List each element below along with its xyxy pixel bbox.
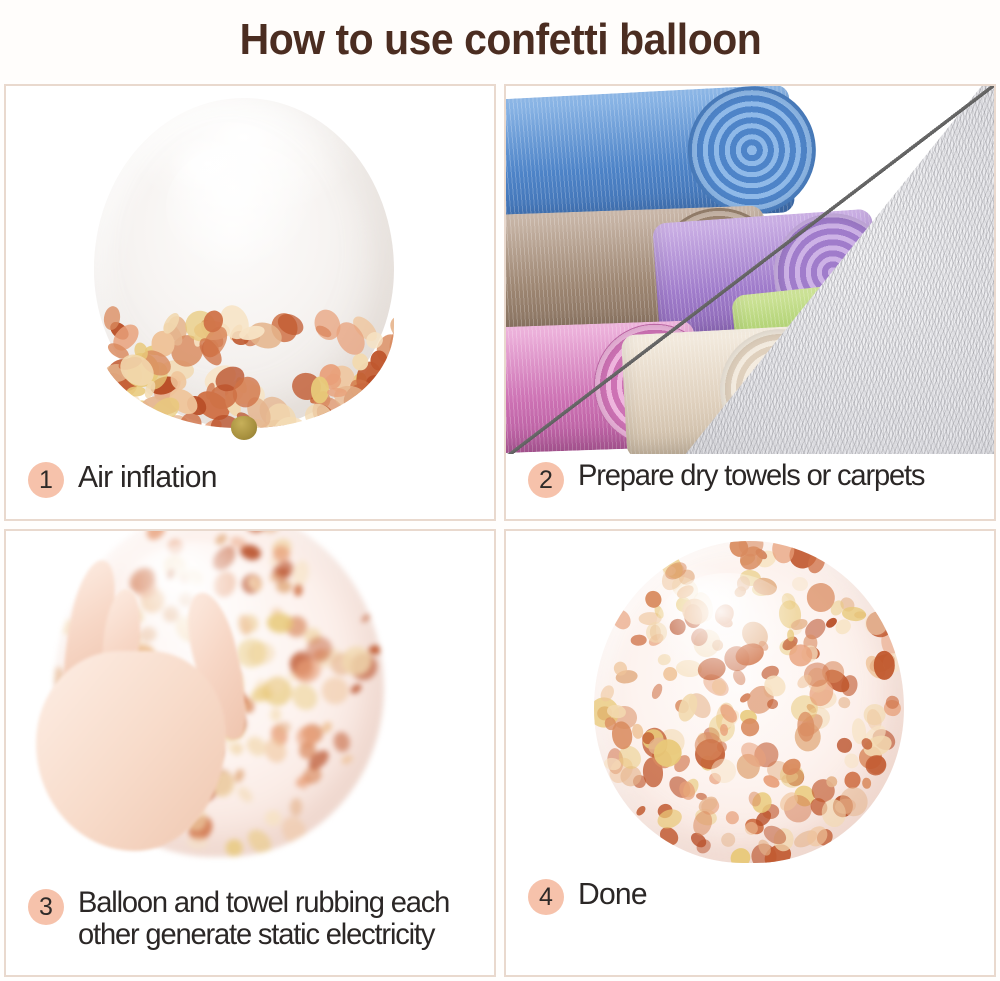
confetti-dot	[724, 808, 742, 826]
confetti-dot	[143, 531, 169, 543]
hand-rubbing-balloon-photo	[6, 531, 494, 883]
confetti-dot	[186, 835, 208, 849]
step-panel-2: 2 Prepare dry towels or carpets	[504, 84, 996, 521]
confetti-dot	[360, 612, 373, 624]
confetti-dot	[243, 825, 275, 857]
towels-and-carpet-photo	[506, 86, 994, 458]
step-3-caption: 3 Balloon and towel rubbing each other g…	[6, 881, 494, 975]
step-1-caption: 1 Air inflation	[6, 454, 494, 519]
confetti-dot	[333, 730, 352, 753]
confetti-dot	[861, 777, 871, 789]
steps-grid: 1 Air inflation 2 Prepare dry towels or …	[4, 84, 996, 977]
step-panel-1: 1 Air inflation	[4, 84, 496, 521]
balloon-highlight	[656, 573, 799, 682]
page-title-bar: How to use confetti balloon	[0, 0, 1000, 80]
confetti-dot	[838, 695, 853, 709]
confetti-dot	[370, 350, 387, 370]
confetti-dot	[340, 754, 354, 767]
step-caption-text-2: Prepare dry towels or carpets	[578, 460, 924, 492]
confetti-dot	[289, 798, 302, 817]
confetti-dot	[277, 813, 310, 849]
step-caption-text-1: Air inflation	[78, 460, 217, 493]
confetti-dot	[609, 606, 635, 633]
confetti-dot	[634, 804, 647, 817]
confetti-dot	[317, 672, 354, 709]
confetti-dot	[235, 784, 256, 805]
confetti-dot	[369, 645, 382, 655]
step-panel-4: 4 Done	[504, 529, 996, 977]
settled-confetti-layer	[94, 283, 394, 428]
step-number-badge-3: 3	[28, 889, 64, 925]
balloon-highlight	[166, 144, 316, 269]
confetti-dot	[257, 531, 285, 537]
page-title: How to use confetti balloon	[239, 15, 761, 65]
step-caption-text-3: Balloon and towel rubbing each other gen…	[78, 887, 476, 952]
confetti-dot	[631, 634, 647, 645]
white-balloon-shape	[94, 98, 394, 428]
confetti-dot	[286, 679, 322, 716]
step-number-badge-1: 1	[28, 462, 64, 498]
confetti-dot	[864, 612, 887, 636]
infographic-page: How to use confetti balloon 1 Air inflat…	[0, 0, 1000, 981]
confetti-dot	[650, 682, 665, 700]
confetti-dot	[127, 385, 146, 396]
finished-confetti-balloon-photo	[506, 531, 994, 871]
confetti-dot	[791, 576, 809, 593]
step-number-badge-2: 2	[528, 462, 564, 498]
balloon-knot-icon	[737, 857, 761, 871]
confetti-dot	[766, 698, 779, 710]
confetti-balloon-shape-4	[594, 541, 904, 863]
step-4-caption: 4 Done	[506, 871, 994, 975]
step-panel-3: 3 Balloon and towel rubbing each other g…	[4, 529, 496, 977]
confetti-dot	[719, 830, 738, 849]
balloon-knot-icon	[231, 416, 257, 440]
confetti-dot	[292, 584, 302, 597]
confetti-dot	[874, 651, 895, 680]
confetti-dot	[226, 838, 244, 857]
white-balloon-with-settled-confetti-photo	[6, 86, 494, 458]
towel-roll-spiral	[685, 86, 820, 218]
step-number-badge-4: 4	[528, 879, 564, 915]
step-2-caption: 2 Prepare dry towels or carpets	[506, 454, 994, 519]
step-caption-text-4: Done	[578, 877, 647, 910]
confetti-dot	[270, 708, 281, 722]
confetti-dot	[348, 682, 362, 696]
